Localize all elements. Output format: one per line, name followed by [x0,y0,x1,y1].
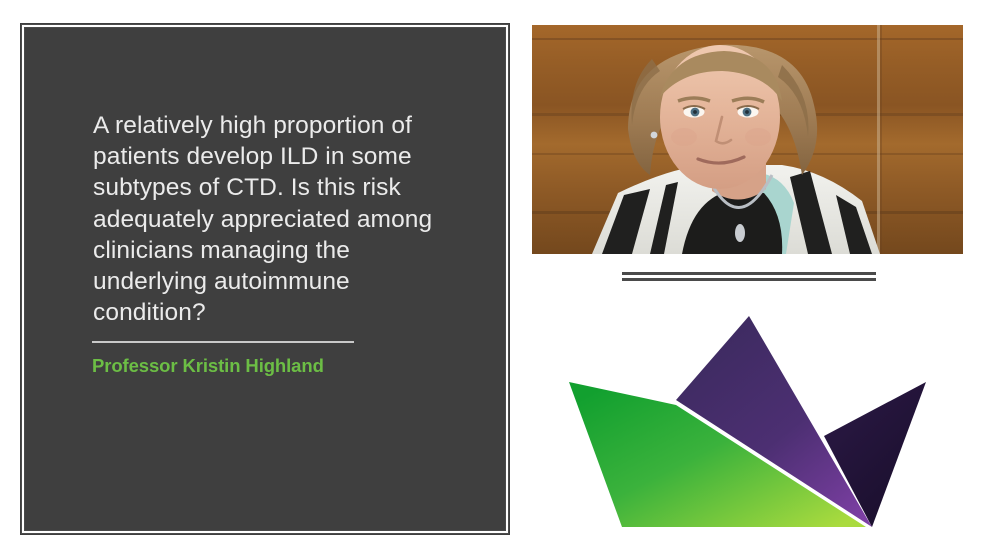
brand-logo [556,308,966,536]
portrait-photo-icon [532,25,963,254]
horizontal-rule-icon [622,278,876,281]
logo-icon [556,308,966,536]
quote-separator-rule [92,341,354,343]
horizontal-rule-icon [622,272,876,275]
quote-attribution: Professor Kristin Highland [92,355,472,377]
quote-panel: A relatively high proportion of patients… [24,27,506,531]
slide-canvas: A relatively high proportion of patients… [0,0,993,559]
logo-divider-rules [622,272,876,281]
speaker-photo [532,25,963,254]
quote-text: A relatively high proportion of patients… [93,110,465,328]
